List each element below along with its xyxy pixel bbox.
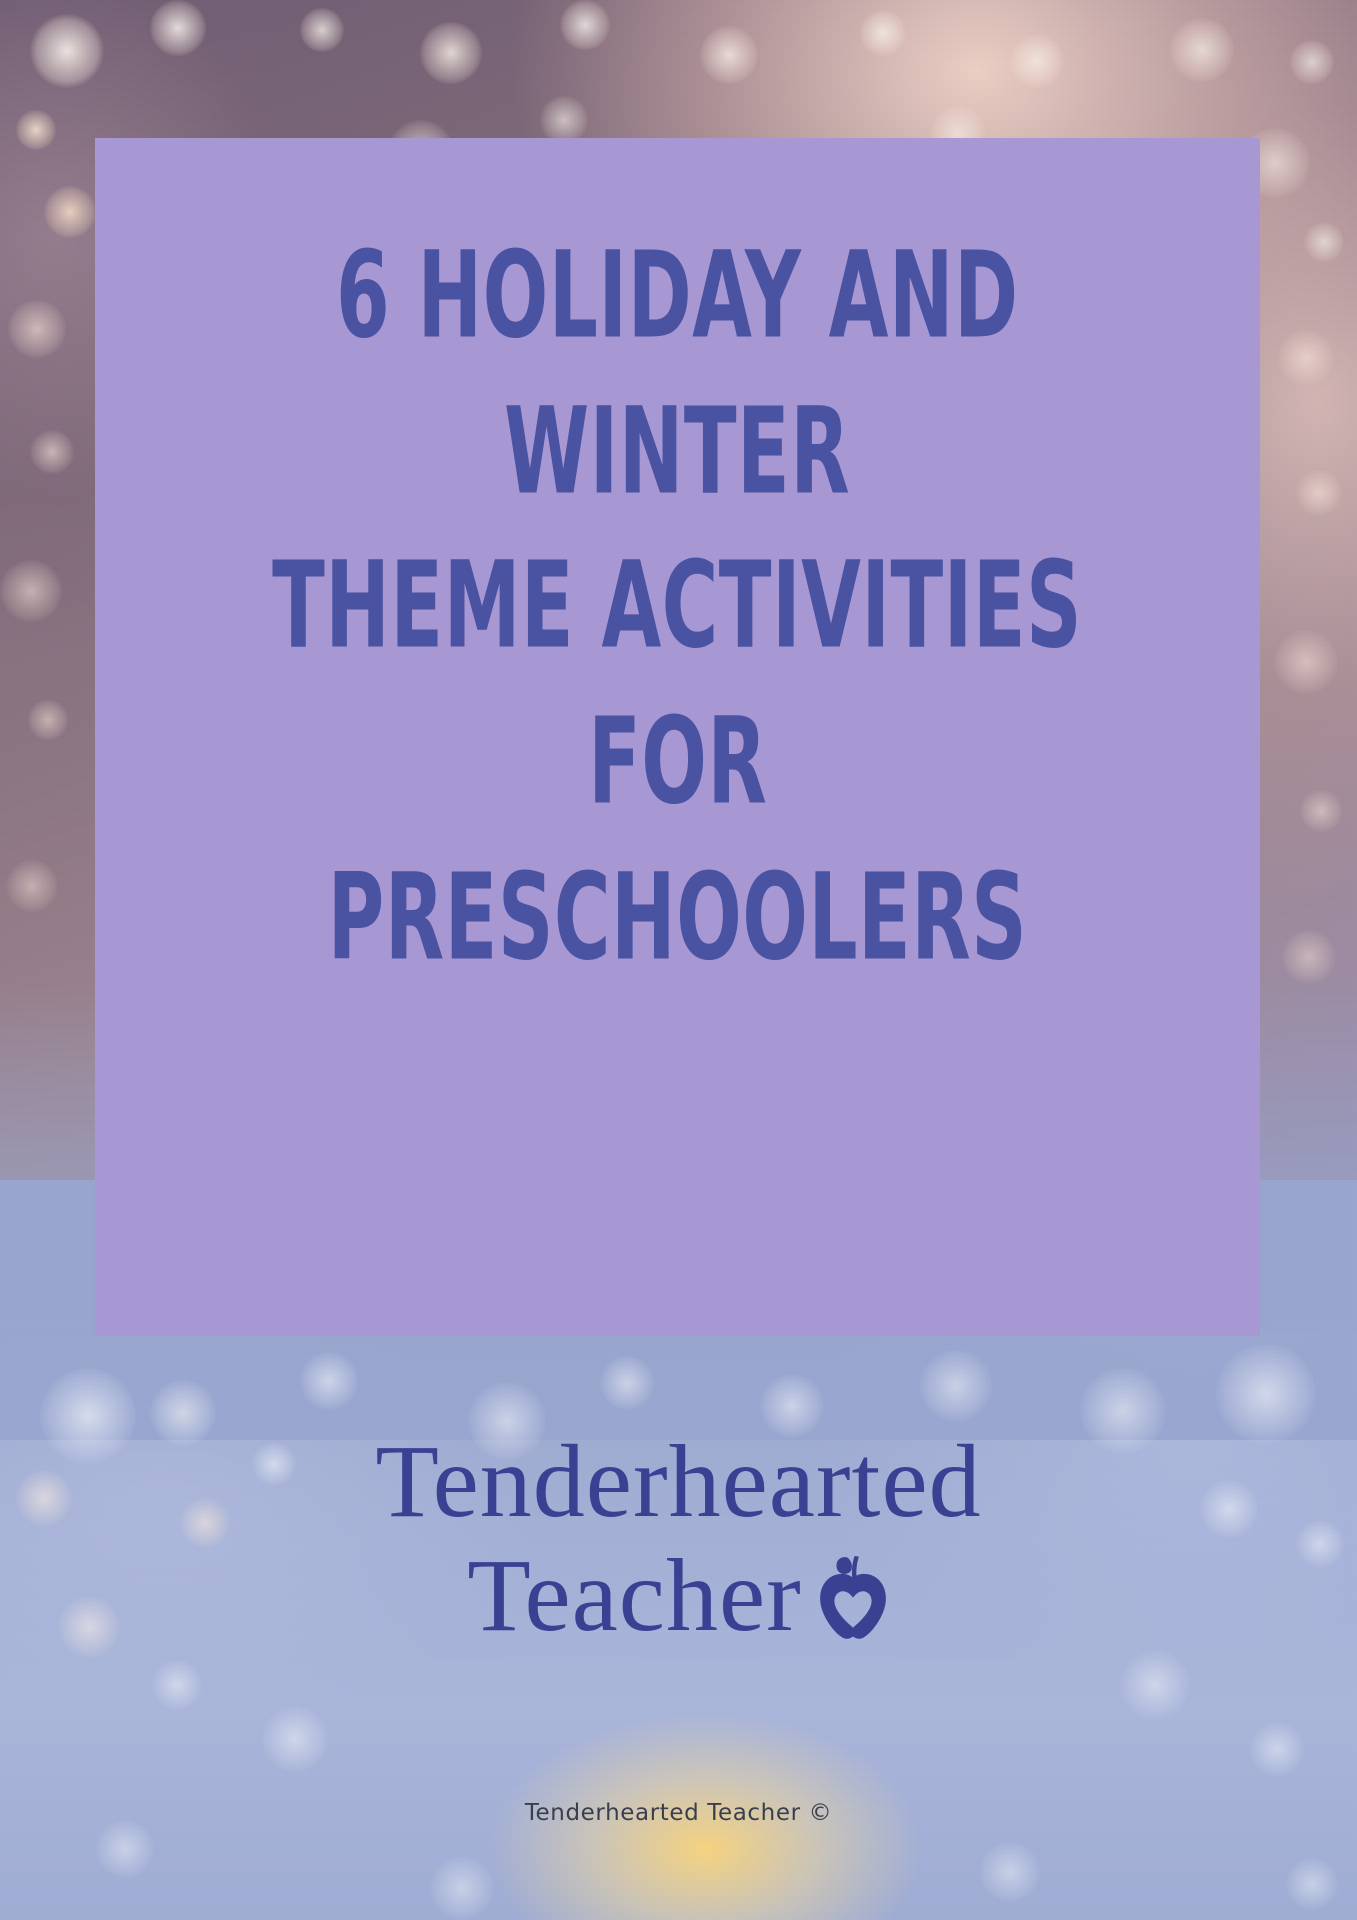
apple-heart-icon bbox=[816, 1548, 890, 1640]
title-line-2: WINTER bbox=[504, 392, 850, 512]
poster-canvas: 6 HOLIDAY AND WINTER THEME ACTIVITIES FO… bbox=[0, 0, 1357, 1920]
footer-credit: Tenderhearted Teacher © bbox=[0, 1800, 1357, 1826]
brand-logo: Tenderhearted Teacher bbox=[0, 1430, 1357, 1648]
brand-logo-line-2-row: Teacher bbox=[0, 1544, 1357, 1648]
title-card: 6 HOLIDAY AND WINTER THEME ACTIVITIES FO… bbox=[95, 138, 1260, 1336]
title-line-3: THEME ACTIVITIES bbox=[273, 546, 1083, 666]
brand-logo-line-2: Teacher bbox=[467, 1544, 802, 1648]
title-line-4: FOR bbox=[588, 702, 767, 822]
title-line-1: 6 HOLIDAY AND bbox=[336, 236, 1019, 356]
title-line-5: PRESCHOOLERS bbox=[328, 858, 1028, 978]
brand-logo-line-1: Tenderhearted bbox=[0, 1430, 1357, 1534]
